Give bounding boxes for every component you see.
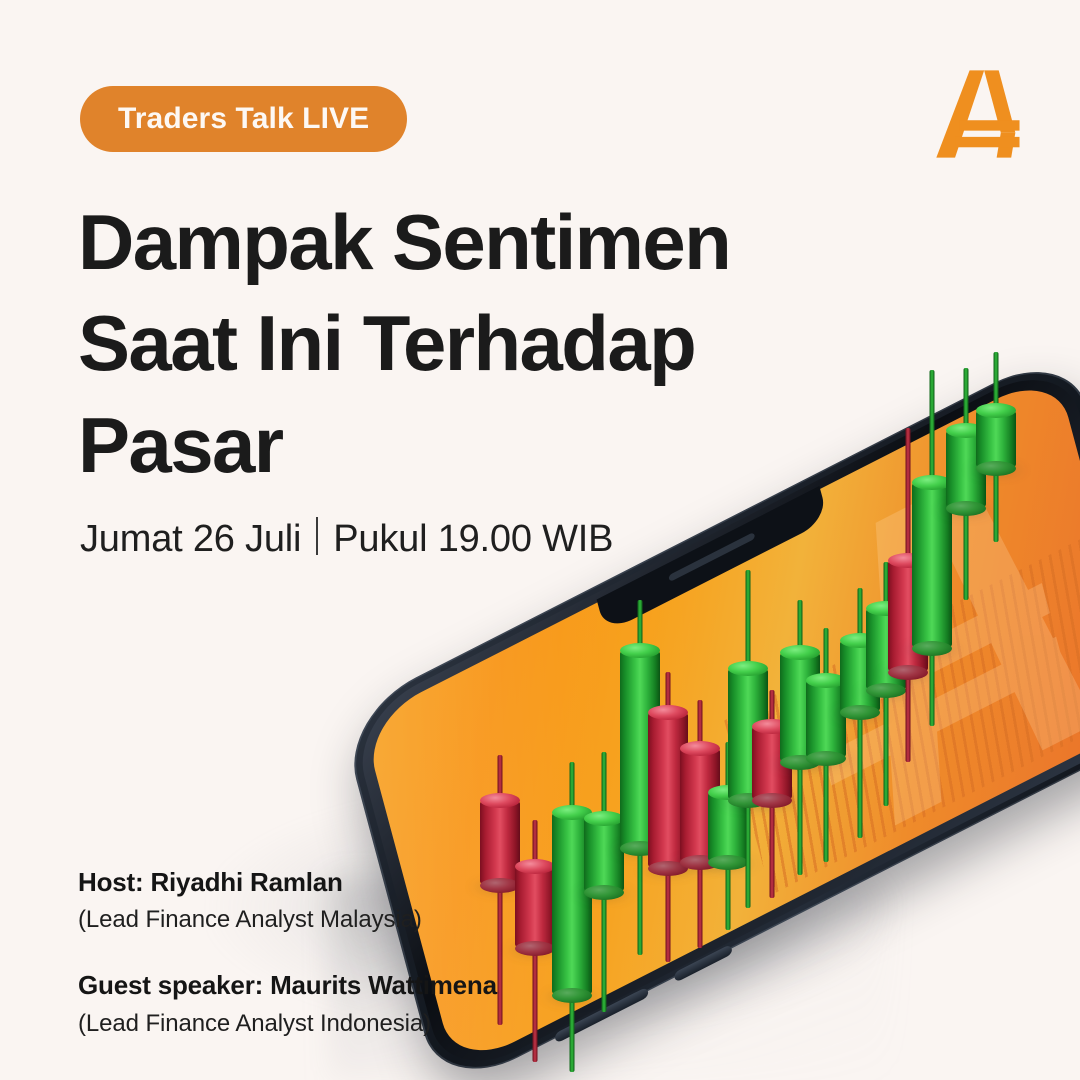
phone-notch (597, 486, 829, 633)
candle-17-up (976, 410, 1016, 468)
candle-body (648, 712, 688, 868)
candle-wick-lower (666, 868, 671, 962)
candle-top-ellipse (480, 793, 520, 808)
candle-body (888, 560, 928, 672)
candle-shadow (697, 856, 759, 872)
candle-top-ellipse (552, 805, 592, 820)
candle-wick-lower (824, 758, 829, 862)
candle-wick-lower (884, 690, 889, 806)
candle-shadow (795, 752, 857, 768)
candle-base-ellipse (946, 501, 986, 516)
candle-wick-upper (824, 628, 829, 680)
candle-body (840, 640, 880, 712)
candle-base-ellipse (620, 841, 660, 856)
headline-line-3: Pasar (78, 395, 818, 496)
brand-a-logo-icon (926, 62, 1034, 166)
candle-shadow (855, 684, 917, 700)
candle-shadow (965, 462, 1027, 478)
candle-shadow (741, 794, 803, 810)
candle-base-ellipse (708, 855, 748, 870)
candle-wick-lower (994, 468, 999, 542)
candle-base-ellipse (680, 855, 720, 870)
candle-body (806, 680, 846, 758)
candle-wick-upper (726, 742, 731, 792)
candle-body (976, 410, 1016, 468)
candle-top-ellipse (728, 661, 768, 676)
candle-wick-lower (964, 508, 969, 600)
screen-stripe-texture (724, 509, 1080, 896)
guest-name: Guest speaker: Maurits Wattimena (78, 969, 638, 1002)
candle-base-ellipse (888, 665, 928, 680)
candle-12-up (840, 640, 880, 712)
candle-wick-upper (884, 562, 889, 608)
candle-wick-upper (770, 690, 775, 726)
candle-top-ellipse (840, 633, 880, 648)
candle-7-up (708, 792, 748, 862)
candle-body (708, 792, 748, 862)
candle-wick-upper (994, 352, 999, 410)
candle-body (752, 726, 792, 800)
candle-wick-lower (746, 800, 751, 908)
candle-base-ellipse (648, 861, 688, 876)
candle-base-ellipse (976, 461, 1016, 476)
candle-body (620, 650, 660, 848)
candle-top-ellipse (866, 601, 906, 616)
speaker-credits: Host: Riyadhi Ramlan (Lead Finance Analy… (78, 866, 638, 1039)
candle-base-ellipse (780, 755, 820, 770)
candle-wick-upper (930, 370, 935, 482)
candle-16-up (946, 430, 986, 508)
guest-role: (Lead Finance Analyst Indonesia) (78, 1008, 638, 1039)
candle-shadow (609, 842, 671, 858)
candle-wick-upper (964, 368, 969, 430)
datetime-separator (316, 517, 318, 555)
live-badge: Traders Talk LIVE (80, 86, 407, 152)
candle-body (912, 482, 952, 648)
candle-base-ellipse (866, 683, 906, 698)
candle-body (680, 748, 720, 862)
candle-shadow (935, 502, 997, 518)
page-title: Dampak Sentimen Saat Ini Terhadap Pasar (78, 192, 818, 496)
candle-top-ellipse (620, 643, 660, 658)
candle-shadow (669, 856, 731, 872)
candle-6-down (680, 748, 720, 862)
candle-body (946, 430, 986, 508)
candle-wick-lower (770, 800, 775, 898)
candle-body (728, 668, 768, 800)
phone-side-button-secondary (673, 944, 733, 983)
candle-wick-upper (798, 600, 803, 652)
candle-base-ellipse (806, 751, 846, 766)
candle-wick-upper (602, 752, 607, 818)
candle-top-ellipse (708, 785, 748, 800)
candle-wick-upper (906, 428, 911, 560)
candle-wick-upper (698, 700, 703, 748)
event-time: Pukul 19.00 WIB (333, 518, 613, 561)
candle-base-ellipse (752, 793, 792, 808)
candle-wick-upper (533, 820, 538, 866)
candle-top-ellipse (752, 719, 792, 734)
candle-shadow (717, 794, 779, 810)
candle-15-up (912, 482, 952, 648)
candle-base-ellipse (912, 641, 952, 656)
candle-top-ellipse (648, 705, 688, 720)
host-role: (Lead Finance Analyst Malaysia) (78, 904, 638, 935)
candle-wick-lower (798, 762, 803, 875)
candle-top-ellipse (780, 645, 820, 660)
candle-4-up (620, 650, 660, 848)
candle-14-down (888, 560, 928, 672)
candle-8-up (728, 668, 768, 800)
candle-wick-lower (726, 862, 731, 930)
candle-wick-upper (498, 755, 503, 800)
candle-10-up (780, 652, 820, 762)
candle-base-ellipse (728, 793, 768, 808)
promo-poster: Traders Talk LIVE Dampak Sentimen Saat I… (0, 0, 1080, 1080)
candle-wick-upper (858, 588, 863, 640)
candle-11-up (806, 680, 846, 758)
candle-wick-lower (930, 648, 935, 726)
candle-wick-upper (666, 672, 671, 712)
candle-top-ellipse (946, 423, 986, 438)
candle-shadow (877, 666, 939, 682)
candle-9-down (752, 726, 792, 800)
candle-wick-lower (638, 848, 643, 955)
candle-body (866, 608, 906, 690)
headline-line-1: Dampak Sentimen (78, 192, 818, 293)
candle-top-ellipse (912, 475, 952, 490)
candle-shadow (769, 756, 831, 772)
candle-top-ellipse (584, 811, 624, 826)
headline-line-2: Saat Ini Terhadap (78, 293, 818, 394)
event-datetime: Jumat 26 Juli Pukul 19.00 WIB (80, 513, 613, 561)
candle-body (780, 652, 820, 762)
candle-wick-lower (906, 672, 911, 762)
credit-host: Host: Riyadhi Ramlan (Lead Finance Analy… (78, 866, 638, 935)
candle-13-up (866, 608, 906, 690)
candle-top-ellipse (888, 553, 928, 568)
credit-guest: Guest speaker: Maurits Wattimena (Lead F… (78, 969, 638, 1038)
candle-wick-upper (570, 762, 575, 812)
candle-shadow (637, 862, 699, 878)
candle-shadow (901, 642, 963, 658)
candle-base-ellipse (840, 705, 880, 720)
candle-wick-upper (746, 570, 751, 668)
candle-5-down (648, 712, 688, 868)
host-name: Host: Riyadhi Ramlan (78, 866, 638, 899)
event-date: Jumat 26 Juli (80, 518, 301, 561)
candle-wick-lower (858, 712, 863, 838)
candle-top-ellipse (680, 741, 720, 756)
candle-wick-lower (698, 862, 703, 948)
candle-shadow (829, 706, 891, 722)
candle-top-ellipse (806, 673, 846, 688)
candle-wick-upper (638, 600, 643, 650)
candle-top-ellipse (976, 403, 1016, 418)
